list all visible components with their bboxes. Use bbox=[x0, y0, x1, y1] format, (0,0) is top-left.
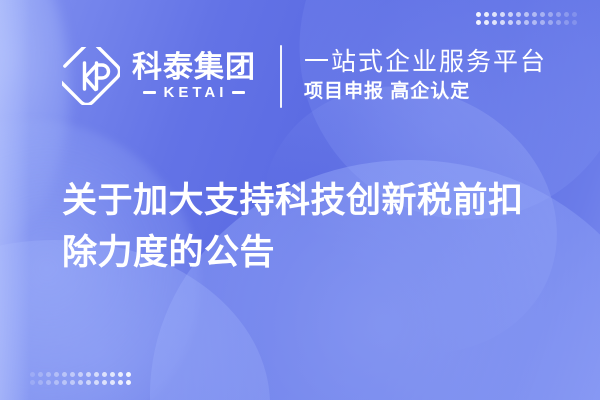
decor-dot bbox=[62, 372, 67, 377]
decor-dot bbox=[540, 20, 545, 25]
decor-dot bbox=[556, 20, 561, 25]
brand-wordmark: 科泰集团 KETAI bbox=[132, 52, 256, 100]
decor-dot bbox=[126, 372, 131, 377]
decor-dot bbox=[492, 20, 497, 25]
decor-dot bbox=[94, 380, 99, 385]
decor-dot bbox=[532, 20, 537, 25]
brand-name-en-row: KETAI bbox=[132, 85, 256, 100]
decor-dot bbox=[46, 380, 51, 385]
rule-right-icon bbox=[232, 91, 245, 94]
decor-dot bbox=[500, 12, 505, 17]
tagline-sub: 项目申报 高企认定 bbox=[304, 82, 547, 103]
decor-dot bbox=[548, 20, 553, 25]
brand-name-en: KETAI bbox=[161, 85, 228, 100]
decor-left-edge-highlight bbox=[0, 0, 30, 400]
decor-dot bbox=[484, 20, 489, 25]
decor-dot bbox=[46, 372, 51, 377]
decor-dot bbox=[484, 12, 489, 17]
decor-dot bbox=[118, 380, 123, 385]
decor-dot bbox=[110, 372, 115, 377]
decor-dot bbox=[508, 12, 513, 17]
decor-dot bbox=[492, 12, 497, 17]
decor-dot bbox=[102, 372, 107, 377]
dot-grid-top-right-icon bbox=[474, 10, 578, 26]
rule-left-icon bbox=[143, 91, 156, 94]
decor-dot bbox=[30, 380, 35, 385]
decor-dot bbox=[564, 20, 569, 25]
decor-dot bbox=[94, 372, 99, 377]
decor-dot bbox=[30, 372, 35, 377]
decor-left-band bbox=[0, 0, 70, 240]
decor-dot bbox=[70, 380, 75, 385]
decor-dot bbox=[70, 372, 75, 377]
decor-dot bbox=[54, 372, 59, 377]
decor-dot bbox=[500, 20, 505, 25]
decor-dot bbox=[78, 380, 83, 385]
decor-dot bbox=[62, 380, 67, 385]
brand-logo: 科泰集团 KETAI bbox=[62, 47, 256, 105]
decor-dot bbox=[524, 20, 529, 25]
decor-dot bbox=[38, 380, 43, 385]
decor-dot bbox=[572, 12, 577, 17]
decor-dot bbox=[102, 380, 107, 385]
decor-dot bbox=[38, 372, 43, 377]
decor-dot bbox=[572, 20, 577, 25]
decor-dot bbox=[556, 12, 561, 17]
decor-dot bbox=[524, 12, 529, 17]
decor-dot bbox=[532, 12, 537, 17]
decor-dot bbox=[540, 12, 545, 17]
banner-header: 科泰集团 KETAI 一站式企业服务平台 项目申报 高企认定 bbox=[62, 40, 547, 112]
header-divider bbox=[280, 45, 282, 108]
dot-grid-bottom-left-icon bbox=[28, 370, 132, 386]
decor-dot bbox=[508, 20, 513, 25]
decor-dot bbox=[564, 12, 569, 17]
announcement-title: 关于加大支持科技创新税前扣除力度的公告 bbox=[62, 175, 552, 279]
decor-dot bbox=[110, 380, 115, 385]
decor-dot bbox=[54, 380, 59, 385]
brand-name-cn: 科泰集团 bbox=[132, 52, 256, 84]
announcement-banner: 科泰集团 KETAI 一站式企业服务平台 项目申报 高企认定 关于加大支持科技创… bbox=[0, 0, 600, 400]
decor-dot bbox=[476, 12, 481, 17]
decor-dot bbox=[86, 372, 91, 377]
decor-dot bbox=[126, 380, 131, 385]
decor-dot bbox=[118, 372, 123, 377]
decor-dot bbox=[78, 372, 83, 377]
decor-dot bbox=[548, 12, 553, 17]
decor-dot bbox=[476, 20, 481, 25]
decor-dot bbox=[516, 12, 521, 17]
decor-dot bbox=[516, 20, 521, 25]
tagline-main: 一站式企业服务平台 bbox=[304, 49, 547, 77]
decor-dot bbox=[86, 380, 91, 385]
tagline-block: 一站式企业服务平台 项目申报 高企认定 bbox=[304, 49, 547, 102]
ketai-kp-diamond-logo-icon bbox=[62, 47, 120, 105]
